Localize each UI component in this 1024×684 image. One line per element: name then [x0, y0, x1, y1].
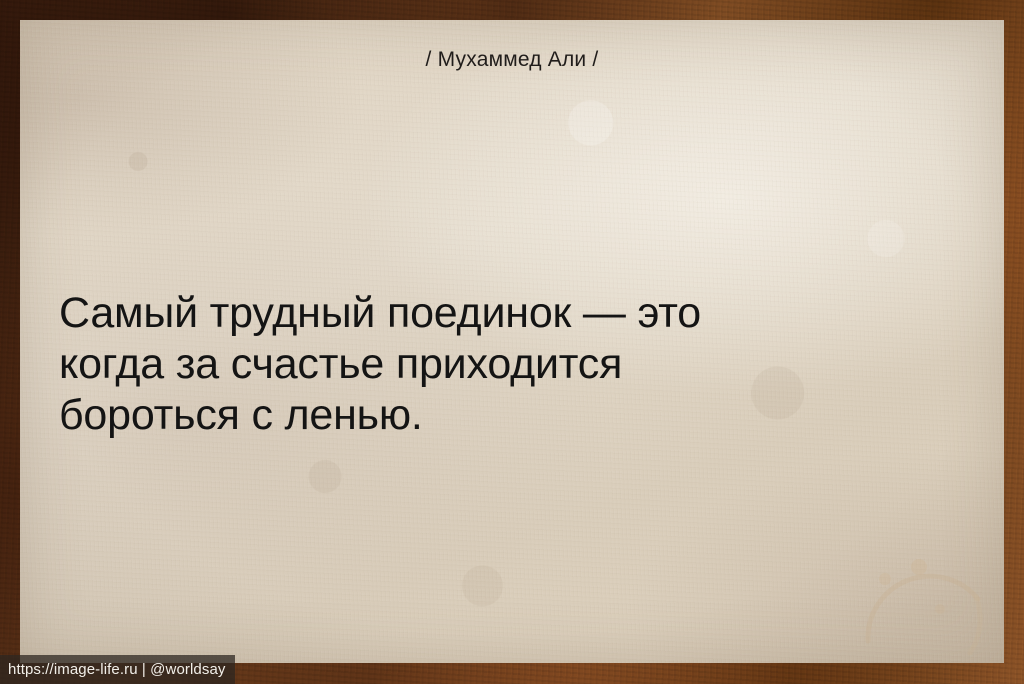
paper-sheet: / Мухаммед Али / Самый трудный поединок …: [20, 20, 1004, 663]
quote-line: когда за счастье приходится: [59, 339, 969, 390]
ring-stain-arc-icon: [858, 523, 1004, 663]
quote-line: бороться с ленью.: [59, 390, 969, 441]
footer-credit-bar: https://image-life.ru | @worldsay: [0, 655, 235, 684]
footer-credit-text: https://image-life.ru | @worldsay: [8, 655, 226, 684]
author-attribution: / Мухаммед Али /: [20, 47, 1004, 73]
quote-line: Самый трудный поединок — это: [59, 288, 969, 339]
quote-text-block: Самый трудный поединок — это когда за сч…: [59, 288, 969, 441]
quote-poster: / Мухаммед Али / Самый трудный поединок …: [0, 0, 1024, 684]
